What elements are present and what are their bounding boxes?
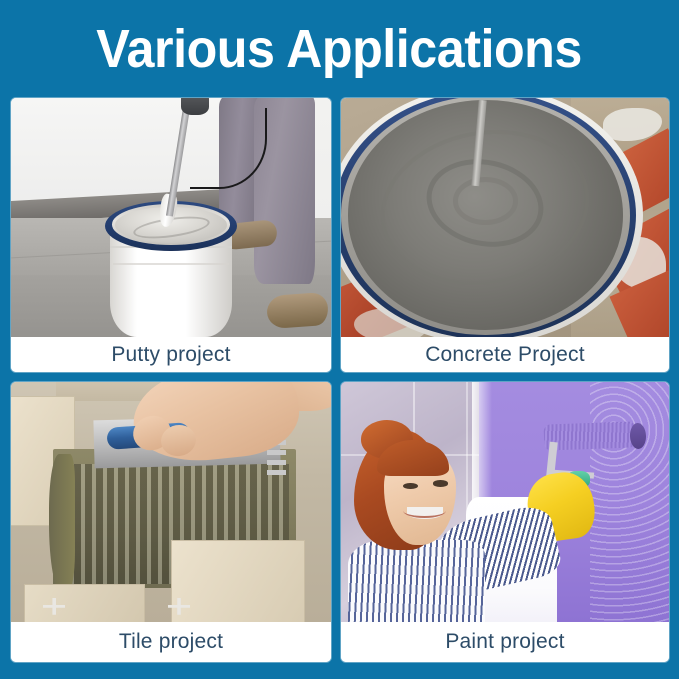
photo-tile-project	[11, 382, 331, 622]
bucket-rib-lower-shape	[113, 263, 228, 265]
paint-roller-shape	[544, 421, 637, 451]
card-caption-paint: Paint project	[341, 622, 669, 662]
card-concrete[interactable]: Concrete Project	[341, 98, 669, 372]
caption-text: Putty project	[111, 343, 230, 367]
card-paint[interactable]: Paint project	[341, 382, 669, 662]
card-caption-tile: Tile project	[11, 622, 331, 662]
tile-bottom-left-shape	[24, 584, 146, 622]
striped-shirt-shape	[348, 540, 486, 622]
caption-text: Tile project	[119, 630, 223, 654]
photo-paint-project	[341, 382, 669, 622]
eye-left-shape	[403, 483, 418, 489]
wall-texture-shape	[590, 382, 669, 622]
lips-shape	[403, 503, 446, 517]
caption-text: Paint project	[445, 630, 564, 654]
adhesive-edge-shape	[49, 454, 75, 593]
card-caption-putty: Putty project	[11, 337, 331, 372]
card-tile[interactable]: Tile project	[11, 382, 331, 662]
applications-grid: Putty project Concrete Project	[11, 98, 669, 666]
photo-putty-project	[11, 98, 331, 337]
worker-boot-front-shape	[266, 292, 329, 330]
photo-concrete-project	[341, 98, 669, 337]
header-title-bar: Various Applications	[0, 0, 679, 98]
eye-right-shape	[433, 480, 448, 486]
card-caption-concrete: Concrete Project	[341, 337, 669, 372]
card-putty[interactable]: Putty project	[11, 98, 331, 372]
tile-bottom-right-shape	[171, 540, 305, 622]
drill-head-shape	[181, 98, 210, 115]
caption-text: Concrete Project	[425, 343, 585, 367]
concrete-swirl-inner-shape	[453, 177, 519, 225]
page-title: Various Applications	[97, 22, 583, 76]
